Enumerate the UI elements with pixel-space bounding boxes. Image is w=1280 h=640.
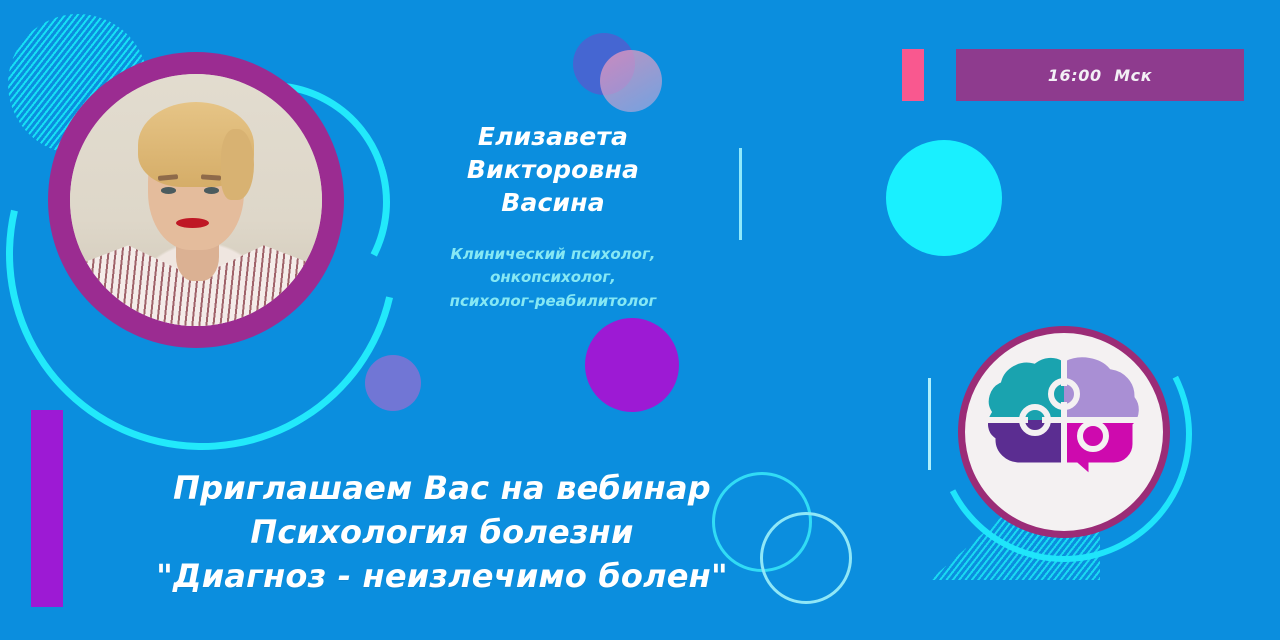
headline-line-3: "Диагноз - неизлечимо болен" [112,555,772,599]
time-badge-group: 16:00 Мск [902,49,1244,101]
avatar-brow-right [201,174,221,180]
avatar-eye-right [204,187,219,194]
striped-circle-decoration [8,14,148,154]
blended-circle-decoration-dark [573,33,635,95]
portrait-ring-frame [48,52,344,348]
speaker-name: Елизавета Викторовна Васина [388,120,718,219]
avatar [70,74,322,326]
status-badge: 16:00 Мск [956,49,1244,101]
speaker-role-line-1: Клинический психолог, [388,243,718,266]
page-title: Приглашаем Вас на вебинар Психология бол… [112,467,772,598]
violet-circle-decoration-small [365,355,421,411]
avatar-hair [138,102,254,188]
speaker-role-line-2: онкопсихолог, [388,266,718,289]
speaker-name-line-2: Васина [388,186,718,219]
headline-line-2: Психология болезни [112,511,772,555]
vertical-divider-line-title [739,148,742,240]
violet-circle-decoration-large [585,318,679,412]
vertical-divider-line-logo [928,378,931,470]
cyan-outline-circle-decoration-b [760,512,852,604]
avatar-hair-side [221,129,254,200]
avatar-lips [176,218,209,228]
avatar-striped-shirt [70,235,322,326]
headline-line-1: Приглашаем Вас на вебинар [112,467,772,511]
portrait-upper-arc-decoration [119,51,421,353]
avatar-face [148,119,244,250]
avatar-neck [176,220,219,280]
cyan-circle-decoration [886,140,1002,256]
speaker-role-line-3: психолог-реабилитолог [388,290,718,313]
purple-vertical-bar-decoration [31,410,63,607]
brain-icon [980,352,1148,510]
avatar-eye-left [161,187,176,194]
time-badge-label: 16:00 Мск [1048,66,1152,85]
brain-puzzle-logo [958,326,1170,538]
speaker-roles: Клинический психолог, онкопсихолог, псих… [388,243,718,313]
speaker-name-line-1: Елизавета Викторовна [388,120,718,186]
avatar-background [70,74,322,326]
avatar-brow-left [158,174,179,181]
brain-puzzle-pieces [980,352,1148,510]
blended-circle-decoration-light [600,50,662,112]
webinar-promo-banner: 16:00 Мск Елизавета Викторовна Васина Кл… [0,0,1280,640]
speaker-info-block: Елизавета Викторовна Васина Клинический … [388,120,718,313]
pink-accent-block [902,49,924,101]
